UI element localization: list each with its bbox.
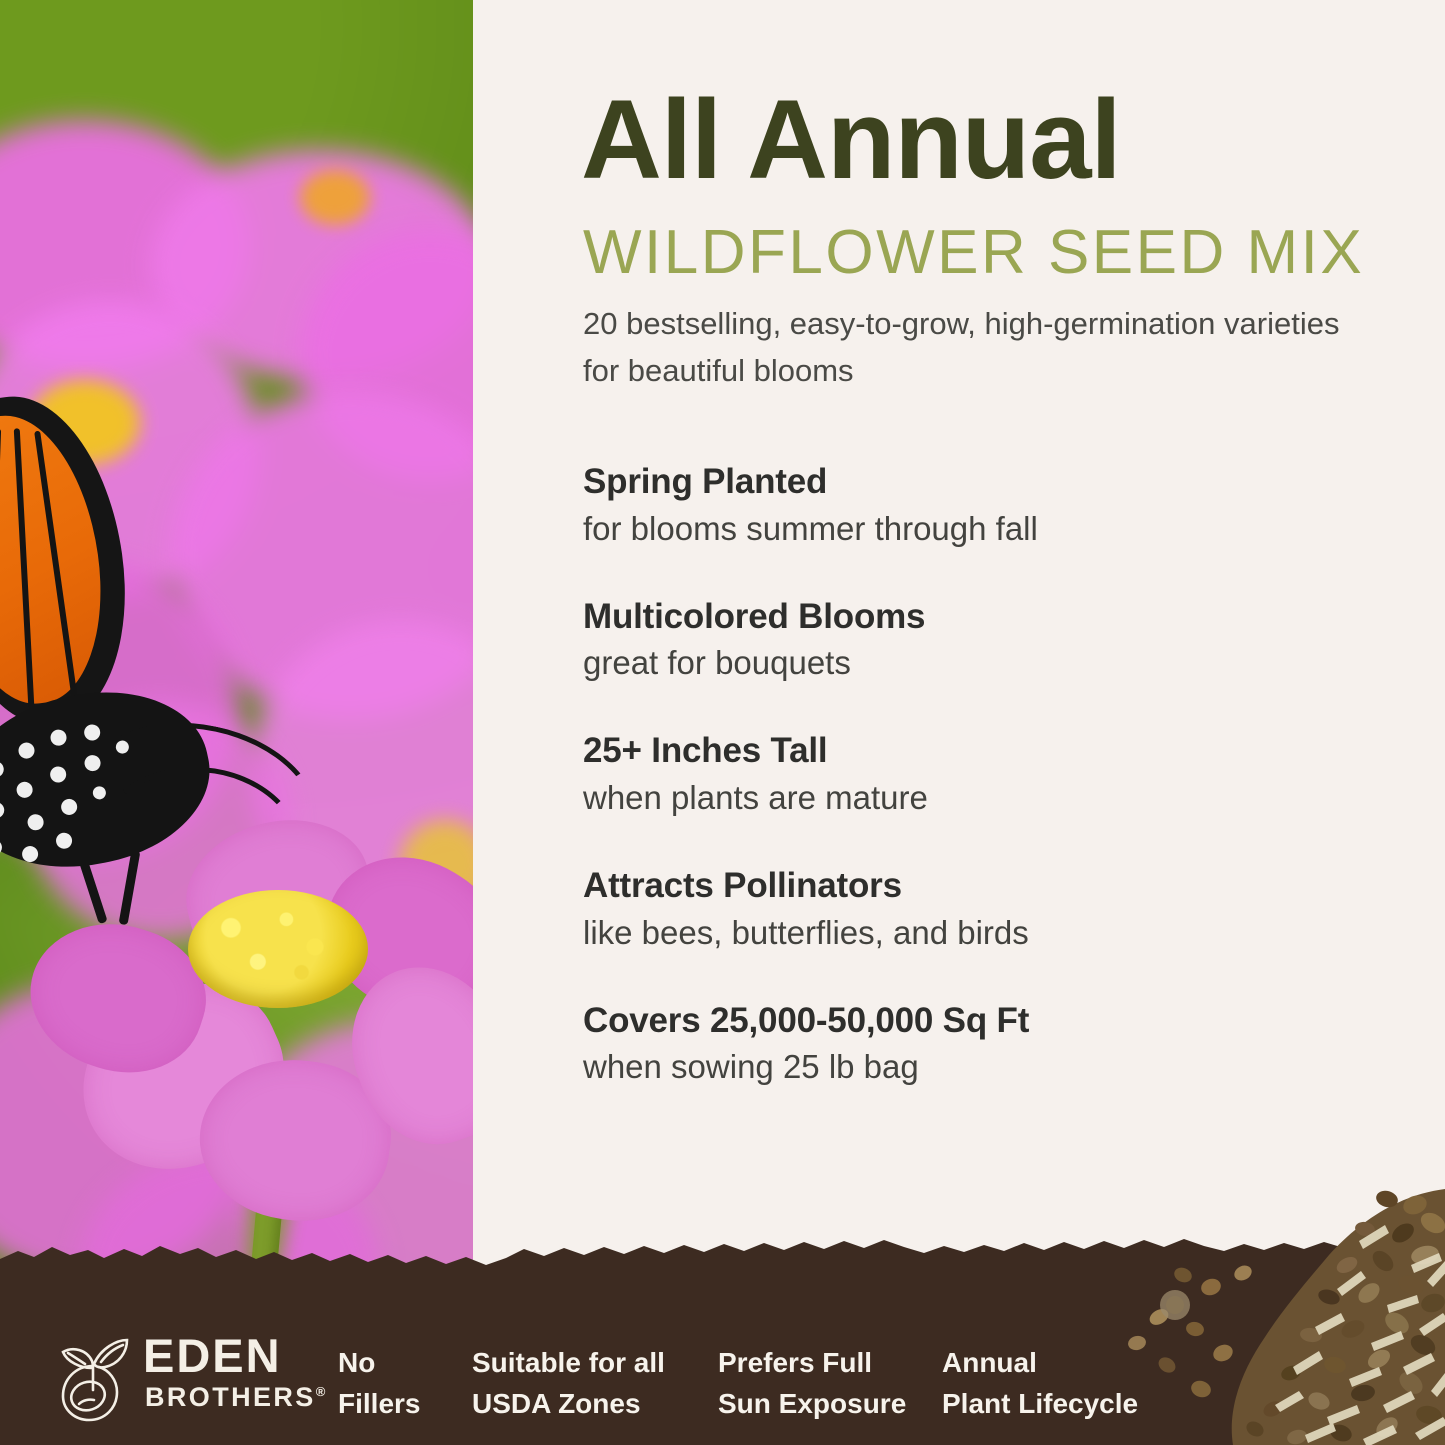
feature-sub: for blooms summer through fall [583,508,1383,551]
badge-line-2: Fillers [338,1384,420,1425]
footer-badge: Suitable for all USDA Zones [472,1343,665,1424]
badge-line-1: Annual [942,1343,1138,1384]
product-photo [0,0,473,1300]
footer-badge: No Fillers [338,1343,420,1424]
brand-logo[interactable]: EDEN BROTHERS® [55,1328,285,1424]
feature-sub: like bees, butterflies, and birds [583,912,1383,955]
feature-heading: 25+ Inches Tall [583,729,1383,773]
feature-heading: Spring Planted [583,460,1383,504]
logo-name-top: EDEN [143,1332,282,1379]
feature-item: Covers 25,000-50,000 Sq Ft when sowing 2… [583,999,1383,1090]
badge-line-2: Sun Exposure [718,1384,906,1425]
page-lede: 20 bestselling, easy-to-grow, high-germi… [583,300,1343,394]
footer-badge: Prefers Full Sun Exposure [718,1343,906,1424]
feature-item: Spring Planted for blooms summer through… [583,460,1383,551]
footer-badge: Annual Plant Lifecycle [942,1343,1138,1424]
page-title: All Annual [581,84,1421,196]
footer-badge-list: No Fillers Suitable for all USDA Zones P… [330,1335,1230,1435]
badge-line-1: Suitable for all [472,1343,665,1384]
seedling-sprout-icon [55,1330,133,1422]
monarch-butterfly [0,395,360,895]
feature-heading: Covers 25,000-50,000 Sq Ft [583,999,1383,1043]
feature-sub: great for bouquets [583,642,1383,685]
content-panel: All Annual WILDFLOWER SEED MIX 20 bestse… [473,0,1445,1300]
wing-orange-field [0,405,117,713]
feature-item: Attracts Pollinators like bees, butterfl… [583,864,1383,955]
wing-vein [34,431,78,699]
badge-line-1: Prefers Full [718,1343,906,1384]
wing-vein [0,429,1,714]
logo-brothers-text: BROTHERS [145,1382,316,1412]
flower-center-blur [300,170,370,225]
page-subtitle: WILDFLOWER SEED MIX [583,222,1443,284]
feature-list: Spring Planted for blooms summer through… [583,460,1383,1133]
feature-sub: when sowing 25 lb bag [583,1046,1383,1089]
feature-sub: when plants are mature [583,777,1383,820]
logo-name-bottom: BROTHERS® [145,1384,328,1411]
feature-item: 25+ Inches Tall when plants are mature [583,729,1383,820]
wing-vein [14,428,35,708]
badge-line-2: USDA Zones [472,1384,665,1425]
product-infographic: All Annual WILDFLOWER SEED MIX 20 bestse… [0,0,1445,1445]
feature-item: Multicolored Blooms great for bouquets [583,595,1383,686]
feature-heading: Attracts Pollinators [583,864,1383,908]
badge-line-2: Plant Lifecycle [942,1384,1138,1425]
registered-mark: ® [316,1384,328,1399]
badge-line-1: No [338,1343,420,1384]
feature-heading: Multicolored Blooms [583,595,1383,639]
